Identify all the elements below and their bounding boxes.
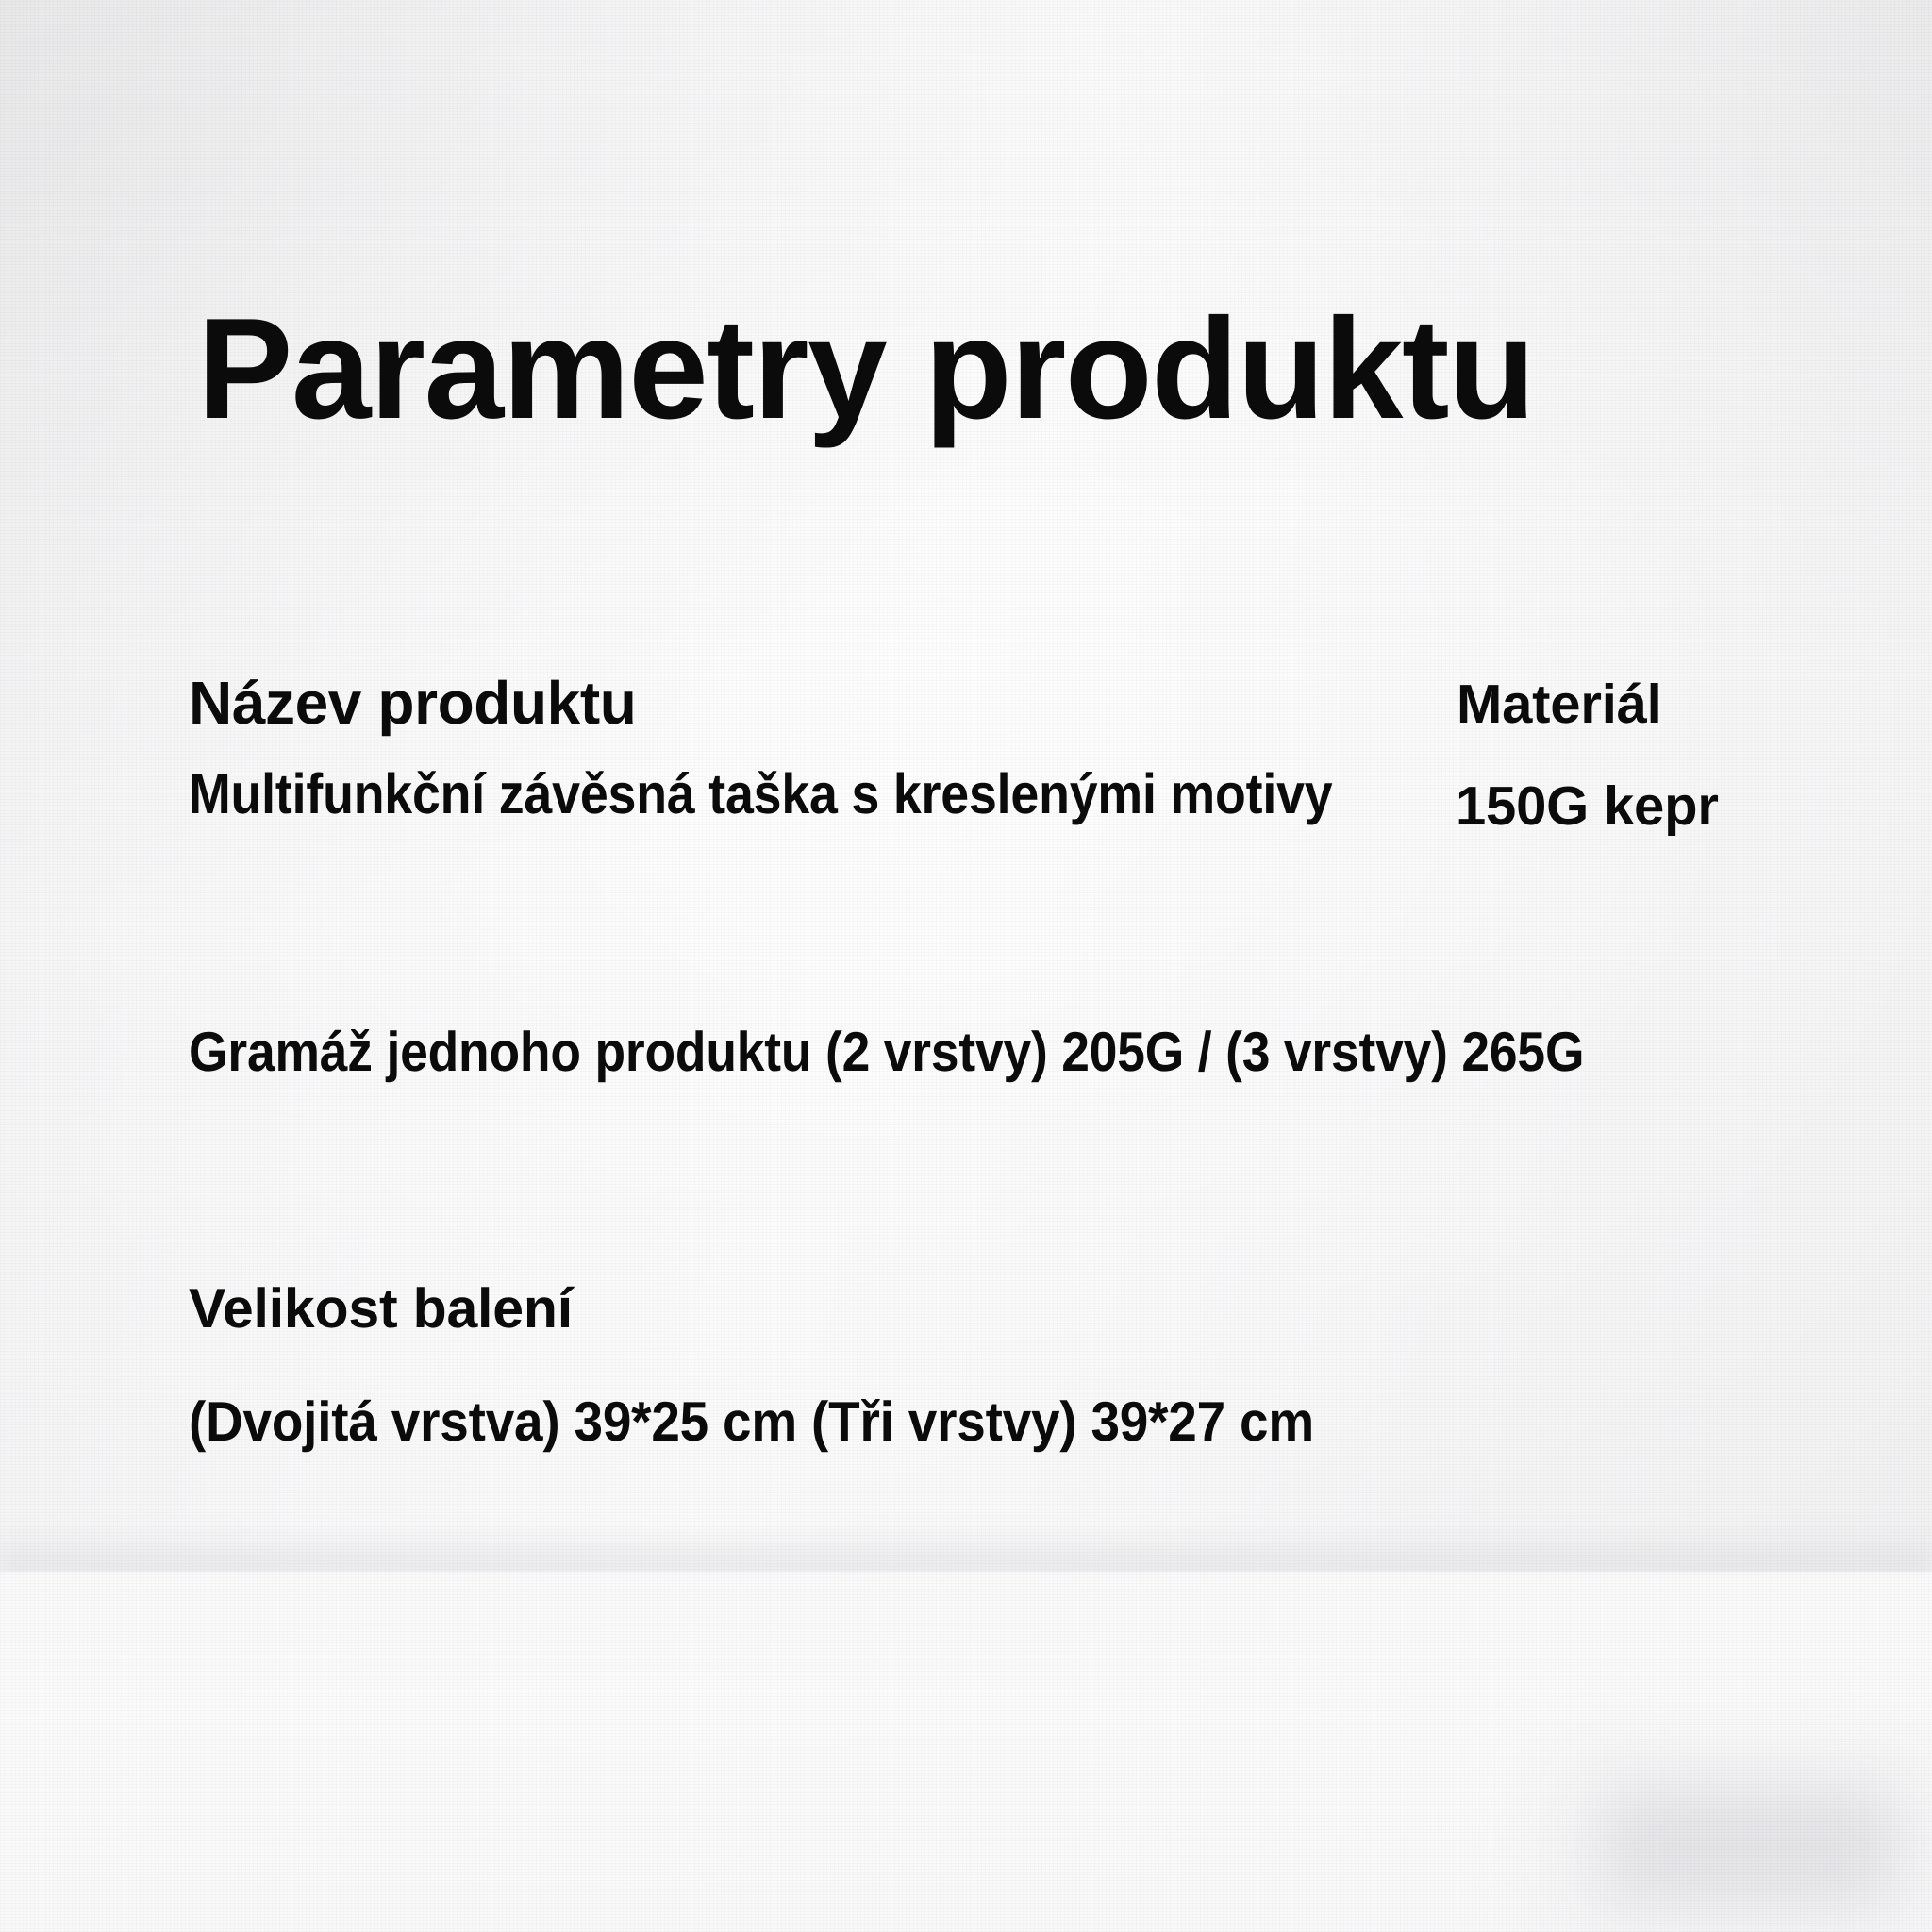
spec-label-packing-size: Velikost balení — [189, 1281, 573, 1337]
spec-label-product-name: Název produktu — [189, 673, 636, 733]
spec-line-unit-weight: Gramáž jednoho produktu (2 vrstvy) 205G … — [189, 1024, 1584, 1080]
spec-value-packing-size: (Dvojitá vrstva) 39*25 cm (Tři vrstvy) 3… — [189, 1394, 1314, 1450]
spec-value-product-name: Multifunkční závěsná taška s kreslenými … — [189, 766, 1332, 823]
spec-value-material: 150G kepr — [1456, 779, 1719, 834]
spec-label-material: Materiál — [1457, 677, 1662, 732]
product-parameters-page: Parametry produktu Název produktu Multif… — [0, 0, 1932, 1932]
page-title: Parametry produktu — [197, 297, 1534, 441]
